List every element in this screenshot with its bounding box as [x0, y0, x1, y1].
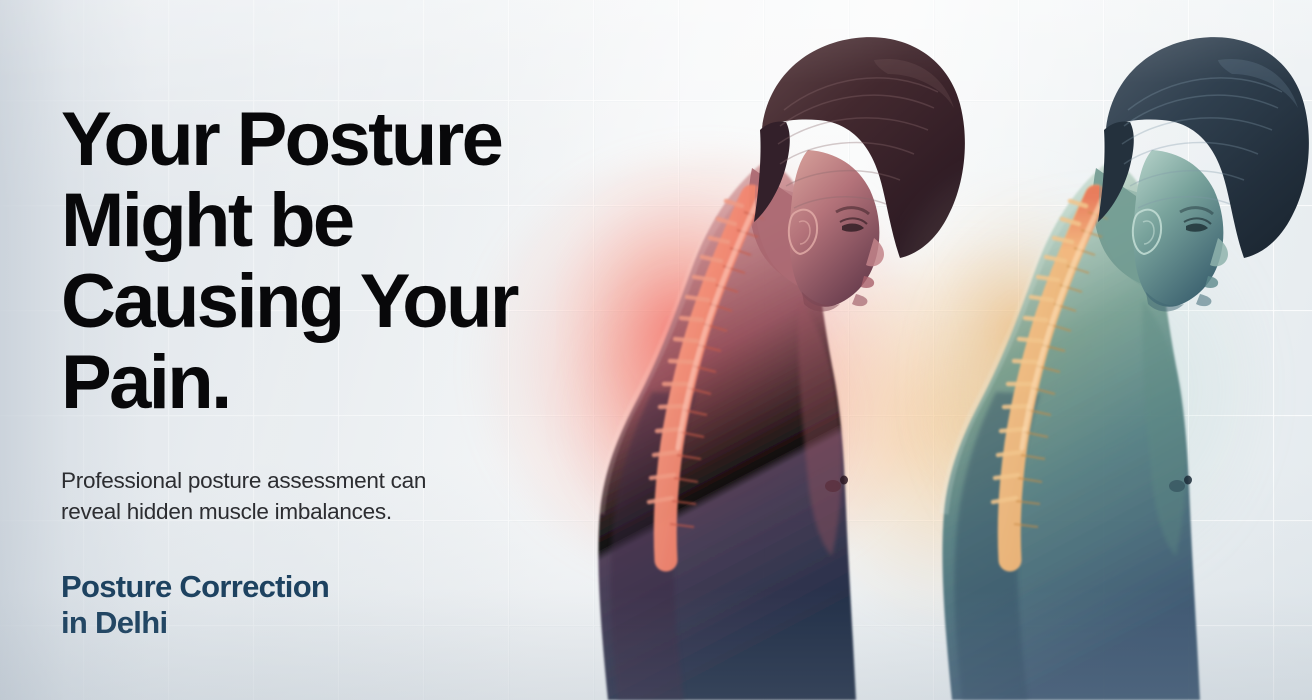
- posture-hero-banner: Your Posture Might be Causing Your Pain.…: [0, 0, 1312, 700]
- service-label: Posture Correction in Delhi: [61, 569, 481, 641]
- service-label-line-1: Posture Correction: [61, 569, 481, 605]
- service-label-line-2: in Delhi: [61, 605, 481, 641]
- subtitle-line-1: Professional posture assessment can: [61, 465, 531, 496]
- headline-line-2: Might be: [61, 180, 621, 261]
- subtitle: Professional posture assessment can reve…: [61, 465, 531, 527]
- page-title: Your Posture Might be Causing Your Pain.: [61, 99, 621, 423]
- headline-line-3: Causing Your: [61, 261, 621, 342]
- copy-block: Your Posture Might be Causing Your Pain.…: [0, 0, 620, 700]
- headline-line-1: Your Posture: [61, 99, 621, 180]
- posture-figure-teal: [900, 0, 1312, 700]
- subtitle-line-2: reveal hidden muscle imbalances.: [61, 496, 531, 527]
- headline-line-4: Pain.: [61, 342, 621, 423]
